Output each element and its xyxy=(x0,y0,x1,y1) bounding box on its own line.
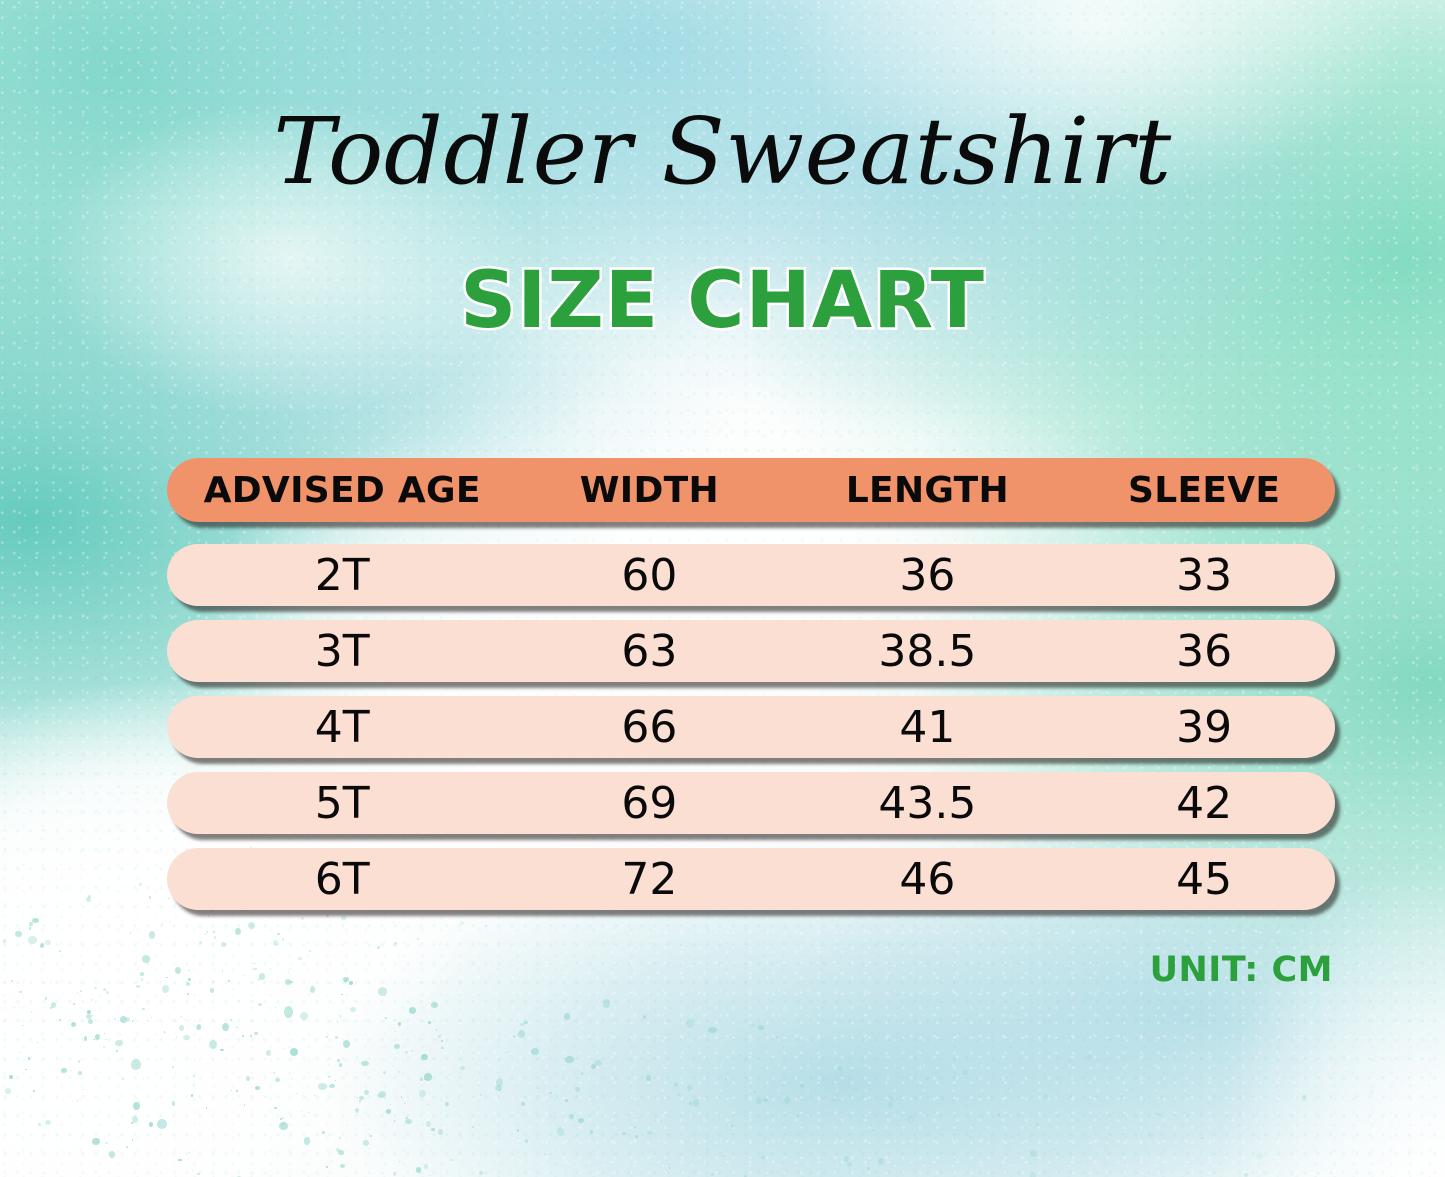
cell-advised-age: 5T xyxy=(167,778,517,829)
cell-advised-age: 3T xyxy=(167,626,517,677)
size-chart-page: Toddler Sweatshirt SIZE CHART ADVISED AG… xyxy=(0,0,1445,1177)
cell-width: 69 xyxy=(517,778,781,829)
column-header-sleeve: SLEEVE xyxy=(1073,470,1335,511)
page-title: Toddler Sweatshirt xyxy=(0,104,1445,201)
cell-width: 66 xyxy=(517,702,781,753)
table-header-row: ADVISED AGE WIDTH LENGTH SLEEVE xyxy=(167,458,1335,522)
cell-advised-age: 4T xyxy=(167,702,517,753)
cell-sleeve: 36 xyxy=(1073,626,1335,677)
cell-width: 63 xyxy=(517,626,781,677)
size-chart-table: ADVISED AGE WIDTH LENGTH SLEEVE 2T 60 36… xyxy=(167,458,1335,910)
page-subtitle: SIZE CHART xyxy=(0,262,1445,340)
column-header-width: WIDTH xyxy=(517,470,781,511)
cell-sleeve: 39 xyxy=(1073,702,1335,753)
table-row: 3T 63 38.5 36 xyxy=(167,620,1335,682)
table-row: 6T 72 46 45 xyxy=(167,848,1335,910)
cell-sleeve: 42 xyxy=(1073,778,1335,829)
cell-advised-age: 2T xyxy=(167,550,517,601)
cell-length: 38.5 xyxy=(781,626,1073,677)
table-row: 5T 69 43.5 42 xyxy=(167,772,1335,834)
table-row: 2T 60 36 33 xyxy=(167,544,1335,606)
cell-width: 60 xyxy=(517,550,781,601)
cell-length: 36 xyxy=(781,550,1073,601)
column-header-length: LENGTH xyxy=(781,470,1073,511)
column-header-advised-age: ADVISED AGE xyxy=(167,470,517,511)
cell-length: 43.5 xyxy=(781,778,1073,829)
unit-note: UNIT: CM xyxy=(1150,950,1333,990)
cell-width: 72 xyxy=(517,854,781,905)
cell-sleeve: 33 xyxy=(1073,550,1335,601)
cell-advised-age: 6T xyxy=(167,854,517,905)
cell-length: 46 xyxy=(781,854,1073,905)
cell-length: 41 xyxy=(781,702,1073,753)
table-row: 4T 66 41 39 xyxy=(167,696,1335,758)
cell-sleeve: 45 xyxy=(1073,854,1335,905)
